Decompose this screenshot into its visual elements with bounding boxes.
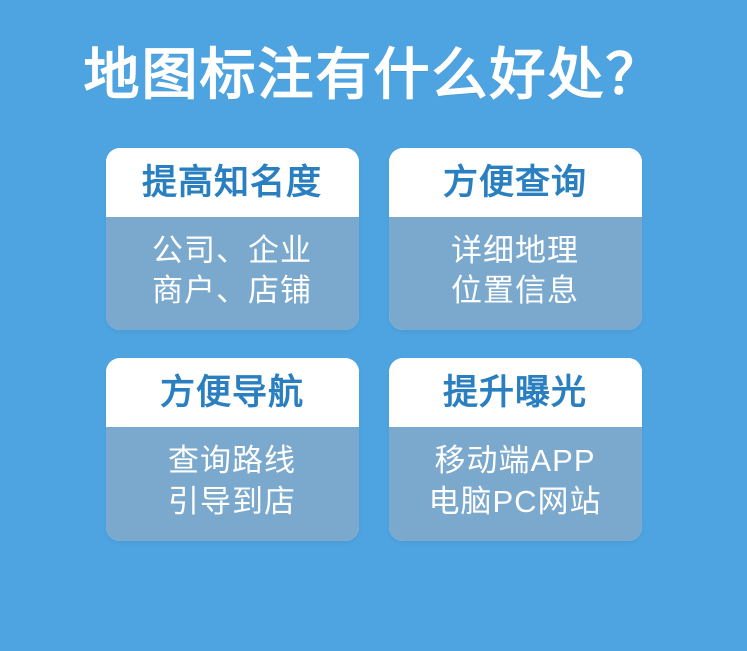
benefit-card-3-body: 查询路线 引导到店	[106, 427, 359, 541]
benefit-card-grid: 提高知名度 公司、企业 商户、店铺 方便查询 详细地理 位置信息 方便导航 查询…	[0, 148, 747, 569]
benefit-card-4-line-2: 电脑PC网站	[395, 482, 636, 523]
benefit-card-4-heading: 提升曝光	[389, 358, 642, 427]
benefit-card-2-line-1: 详细地理	[395, 231, 636, 272]
benefit-card-2-body: 详细地理 位置信息	[389, 217, 642, 331]
benefit-card-2-line-2: 位置信息	[395, 271, 636, 312]
benefit-card-4: 提升曝光 移动端APP 电脑PC网站	[389, 358, 642, 540]
benefit-card-1: 提高知名度 公司、企业 商户、店铺	[106, 148, 359, 330]
page-title: 地图标注有什么好处？	[0, 0, 747, 106]
benefit-card-3-heading: 方便导航	[106, 358, 359, 427]
benefit-card-3-line-2: 引导到店	[112, 482, 353, 523]
benefit-card-4-line-1: 移动端APP	[395, 441, 636, 482]
benefit-card-3: 方便导航 查询路线 引导到店	[106, 358, 359, 540]
benefit-card-1-heading: 提高知名度	[106, 148, 359, 217]
benefit-card-4-body: 移动端APP 电脑PC网站	[389, 427, 642, 541]
benefit-card-1-body: 公司、企业 商户、店铺	[106, 217, 359, 331]
benefit-card-1-line-2: 商户、店铺	[112, 271, 353, 312]
benefit-card-2: 方便查询 详细地理 位置信息	[389, 148, 642, 330]
benefit-card-3-line-1: 查询路线	[112, 441, 353, 482]
benefit-card-2-heading: 方便查询	[389, 148, 642, 217]
benefit-card-1-line-1: 公司、企业	[112, 231, 353, 272]
poster-container: 地图标注有什么好处？ 提高知名度 公司、企业 商户、店铺 方便查询 详细地理 位…	[0, 0, 747, 651]
